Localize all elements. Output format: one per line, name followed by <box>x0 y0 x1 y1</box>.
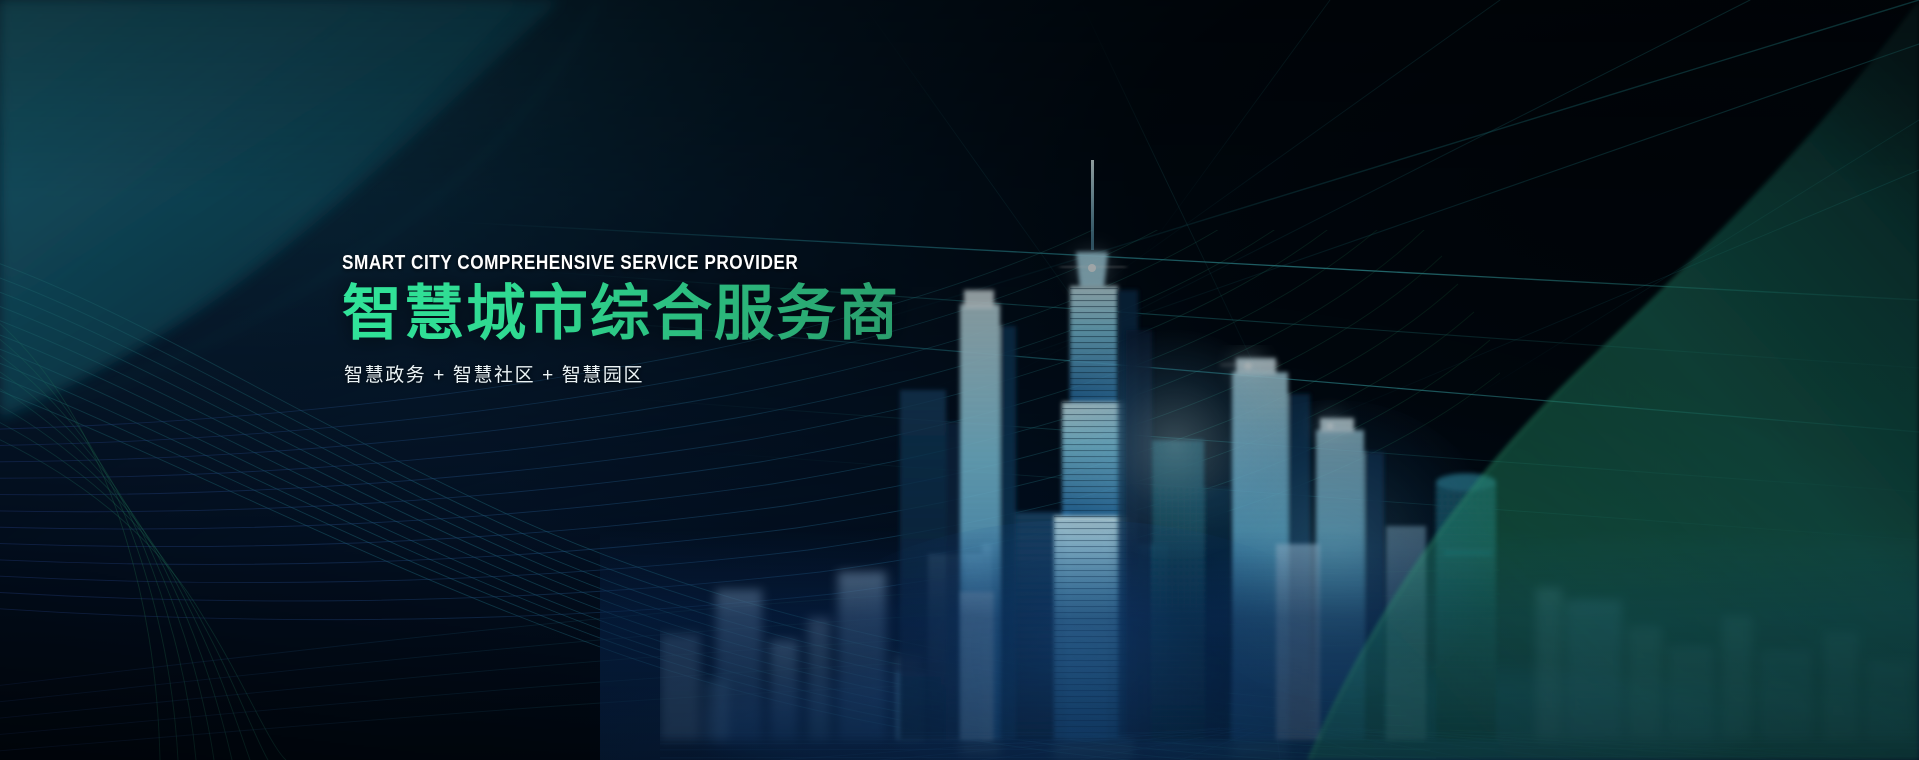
vignette-overlay <box>0 0 1919 760</box>
hero-copy-block: SMART CITY COMPREHENSIVE SERVICE PROVIDE… <box>342 252 900 387</box>
hero-banner: SMART CITY COMPREHENSIVE SERVICE PROVIDE… <box>0 0 1919 760</box>
hero-subcopy-services: 智慧政务 + 智慧社区 + 智慧园区 <box>344 360 900 387</box>
hero-eyebrow-english: SMART CITY COMPREHENSIVE SERVICE PROVIDE… <box>342 252 822 274</box>
hero-headline-chinese: 智慧城市综合服务商 <box>342 282 900 346</box>
